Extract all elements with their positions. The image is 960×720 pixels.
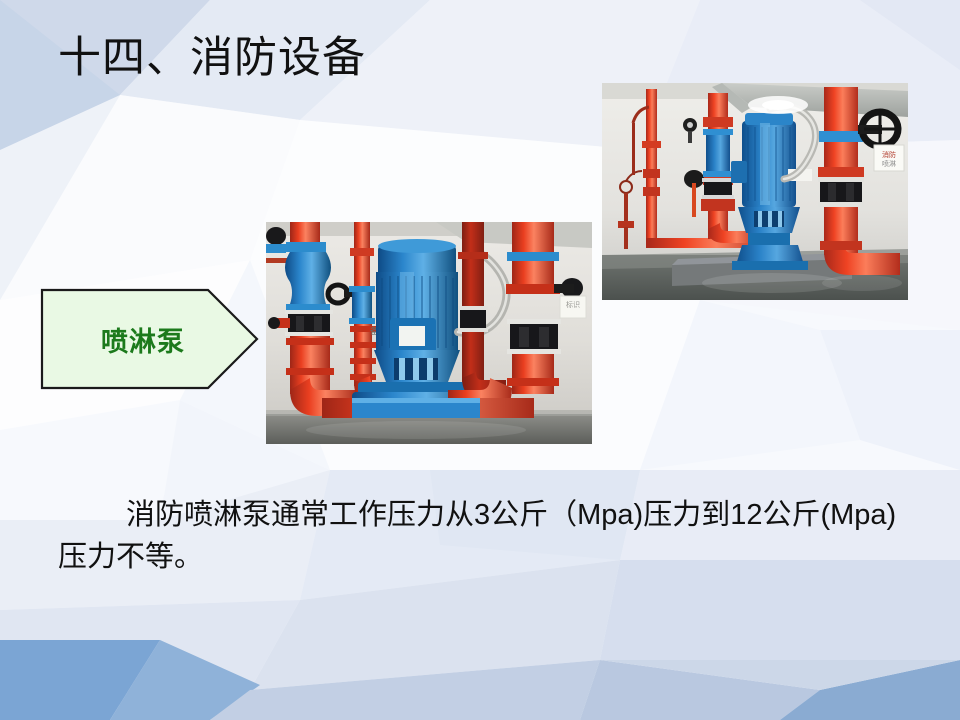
callout-label: 喷淋泵 (78, 320, 208, 359)
callout-pentagon-sprinkler-pump: 喷淋泵 (40, 288, 260, 390)
svg-text:消防: 消防 (882, 150, 896, 159)
svg-text:喷淋: 喷淋 (882, 159, 896, 168)
svg-text:标识: 标识 (566, 300, 580, 309)
fire-pump-room-photo-bottom: 备用 (266, 222, 592, 444)
body-paragraph: 消防喷淋泵通常工作压力从3公斤（Mpa)压力到12公斤(Mpa)压力不等。 (58, 494, 908, 578)
slide-canvas: 十四、消防设备 喷淋泵 (0, 0, 960, 720)
fire-pump-room-photo-top: 消防 喷淋 (602, 83, 908, 300)
page-title: 十四、消防设备 (58, 34, 366, 83)
